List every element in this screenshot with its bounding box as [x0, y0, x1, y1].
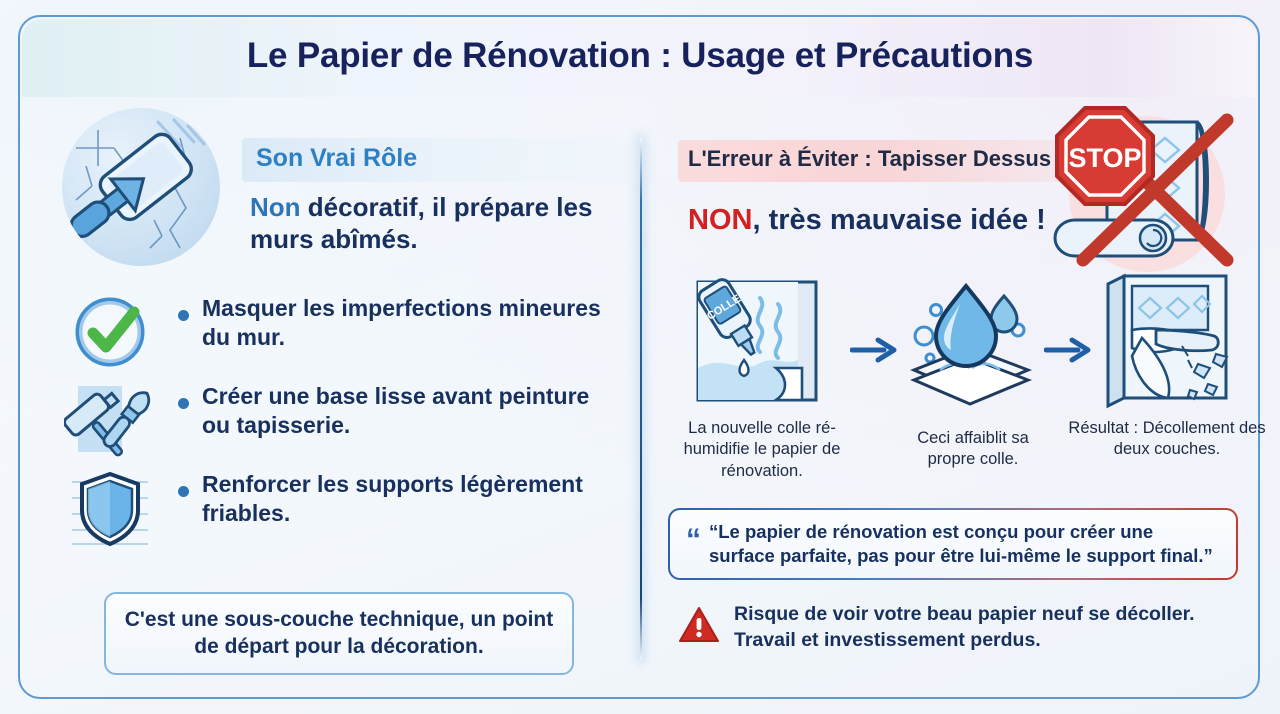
- water-drop-layers-icon: [900, 278, 1040, 413]
- peeling-wallpaper-icon: [1094, 268, 1244, 418]
- trowel-cracked-wall-svg: [62, 108, 220, 266]
- bullet-dot: [178, 486, 189, 497]
- list-item: Renforcer les supports légèrement friabl…: [42, 466, 622, 554]
- paint-roller-brush-icon: [64, 380, 156, 462]
- quote-box: “ “Le papier de rénovation est conçu pou…: [668, 508, 1238, 580]
- right-subheading-no: NON: [688, 204, 752, 236]
- list-item-label: Masquer les imperfections mineures du mu…: [202, 294, 602, 353]
- process-step: COLLE La nouvelle colle ré-humidifie le …: [686, 268, 836, 418]
- bullet-dot: [178, 398, 189, 409]
- left-column: Son Vrai Rôle Non décoratif, il prépare …: [42, 100, 622, 670]
- list-item: Créer une base lisse avant peinture ou t…: [42, 378, 622, 466]
- warning-triangle-icon: [678, 606, 720, 649]
- infographic-poster: Le Papier de Rénovation : Usage et Préca…: [0, 0, 1280, 714]
- step-caption: La nouvelle colle ré-humidifie le papier…: [672, 418, 852, 482]
- list-item: Masquer les imperfections mineures du mu…: [42, 290, 622, 378]
- left-heading: Son Vrai Rôle: [256, 144, 417, 173]
- process-step: Résultat : Décollement des deux couches.: [1094, 268, 1244, 418]
- trowel-cracked-wall-icon: [62, 108, 220, 266]
- list-item-label: Renforcer les supports légèrement friabl…: [202, 470, 602, 529]
- right-subheading: NON, très mauvaise idée !: [688, 204, 1046, 237]
- step-caption: Ceci affaiblit sa propre colle.: [898, 428, 1048, 471]
- right-subheading-rest: , très mauvaise idée !: [752, 204, 1045, 236]
- column-divider: [640, 138, 642, 660]
- left-subheading-highlight: Non: [250, 192, 301, 222]
- quote-text: “Le papier de rénovation est conçu pour …: [709, 520, 1222, 568]
- step-caption: Résultat : Décollement des deux couches.: [1062, 418, 1272, 461]
- left-subheading-rest: décoratif, il prépare les murs abîmés.: [250, 192, 592, 254]
- warning-text: Risque de voir votre beau papier neuf se…: [734, 602, 1238, 654]
- right-column: L'Erreur à Éviter : Tapisser Dessus NON,…: [660, 100, 1245, 670]
- left-callout-box: C'est une sous-couche technique, un poin…: [104, 592, 574, 675]
- left-subheading: Non décoratif, il prépare les murs abîmé…: [250, 192, 635, 255]
- right-heading: L'Erreur à Éviter : Tapisser Dessus: [688, 146, 1051, 172]
- stop-sign-label: STOP: [1068, 143, 1141, 173]
- process-step: Ceci affaiblit sa propre colle.: [900, 278, 1040, 413]
- process-steps: COLLE La nouvelle colle ré-humidifie le …: [672, 268, 1252, 498]
- check-circle-icon: [64, 292, 156, 374]
- arrow-right-icon: [850, 336, 898, 369]
- glue-bottle-wall-icon: COLLE: [686, 268, 836, 418]
- page-title: Le Papier de Rénovation : Usage et Préca…: [0, 36, 1280, 76]
- stop-sign-crossed-wallpaper-roll-icon: STOP: [1035, 102, 1250, 277]
- shield-brick-wall-icon: [64, 468, 156, 550]
- list-item-label: Créer une base lisse avant peinture ou t…: [202, 382, 602, 441]
- quote-mark-icon: “: [686, 525, 701, 555]
- left-bullet-list: Masquer les imperfections mineures du mu…: [42, 290, 622, 554]
- warning-row: Risque de voir votre beau papier neuf se…: [678, 602, 1238, 654]
- arrow-right-icon: [1044, 336, 1092, 369]
- bullet-dot: [178, 310, 189, 321]
